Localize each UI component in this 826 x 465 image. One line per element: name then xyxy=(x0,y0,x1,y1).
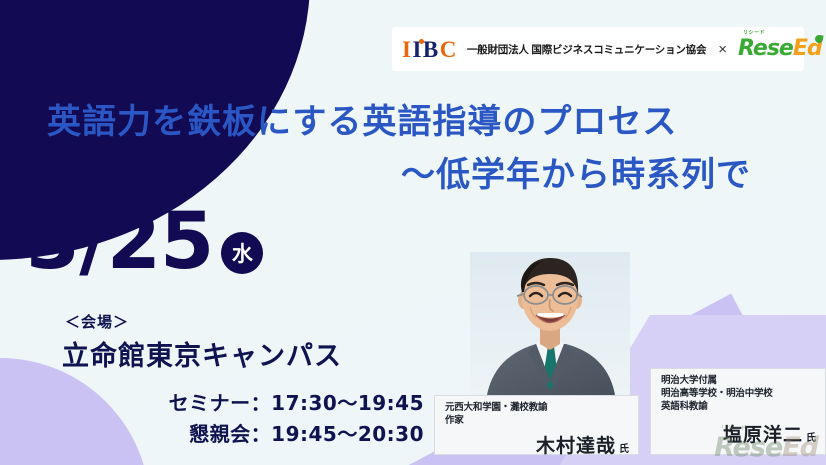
speaker-role-shiohara: 明治大学付属 明治高等学校・明治中学校 英語科教諭 xyxy=(661,375,816,413)
speaker-role-shiohara-line1: 明治大学付属 xyxy=(661,375,816,388)
iibc-letter-1: I xyxy=(402,37,412,62)
event-date-number: 3/25 xyxy=(26,203,213,281)
speaker-name-shiohara: 塩原洋二 xyxy=(723,424,803,446)
schedule-block: セミナー：17:30〜19:45 懇親会：19:45〜20:30 xyxy=(0,388,430,450)
reseed-ruby-text: リシード xyxy=(743,31,765,36)
speaker-honorific-shiohara: 氏 xyxy=(806,433,816,444)
speaker-role-kimura-line1: 元西大和学園・灘校教諭 xyxy=(445,402,629,415)
speaker-role-shiohara-line3: 英語科教諭 xyxy=(661,401,816,414)
iibc-letter-4: C xyxy=(440,37,458,62)
speaker-card-kimura: 元西大和学園・灘校教諭 作家 木村達哉氏 xyxy=(434,395,639,455)
speaker-honorific-kimura: 氏 xyxy=(619,444,629,455)
iibc-letter-3: B xyxy=(423,37,440,62)
logo-bar: IIBC 一般財団法人 国際ビジネスコミュニケーション協会 × リシードRese… xyxy=(392,27,804,71)
cross-separator-icon: × xyxy=(718,41,727,58)
speaker-name-shiohara-wrap: 塩原洋二氏 xyxy=(661,420,816,447)
speaker-name-kimura: 木村達哉 xyxy=(536,435,616,457)
page-title: 英語力を鉄板にする英語指導のプロセス 〜低学年から時系列で xyxy=(47,96,787,201)
schedule-reception: 懇親会：19:45〜20:30 xyxy=(0,419,430,450)
event-date: 3/25 水 xyxy=(26,203,263,281)
reseed-logo: リシードReseEd xyxy=(738,38,822,60)
seminar-poster: IIBC 一般財団法人 国際ビジネスコミュニケーション協会 × リシードRese… xyxy=(0,0,826,465)
title-line-2: 〜低学年から時系列で xyxy=(47,149,787,202)
speaker-role-kimura-line2: 作家 xyxy=(445,415,629,428)
reseed-part-green: Rese xyxy=(738,36,793,61)
speaker-card-shiohara: 明治大学付属 明治高等学校・明治中学校 英語科教諭 塩原洋二氏 xyxy=(650,368,826,455)
iibc-organization-name: 一般財団法人 国際ビジネスコミュニケーション協会 xyxy=(467,42,706,57)
title-line-1: 英語力を鉄板にする英語指導のプロセス xyxy=(47,102,677,142)
speaker-role-kimura: 元西大和学園・灘校教諭 作家 xyxy=(445,402,629,428)
iibc-dot-icon xyxy=(419,39,424,44)
speaker-name-kimura-wrap: 木村達哉氏 xyxy=(445,431,629,458)
event-day-of-week-badge: 水 xyxy=(221,232,263,274)
schedule-seminar: セミナー：17:30〜19:45 xyxy=(0,388,430,419)
speaker-role-shiohara-line2: 明治高等学校・明治中学校 xyxy=(661,388,816,401)
iibc-logo: IIBC xyxy=(402,38,458,61)
venue-name: 立命館東京キャンパス xyxy=(62,334,342,373)
venue-label: ＜会場＞ xyxy=(65,311,129,332)
speaker-photo-kimura xyxy=(470,252,630,402)
